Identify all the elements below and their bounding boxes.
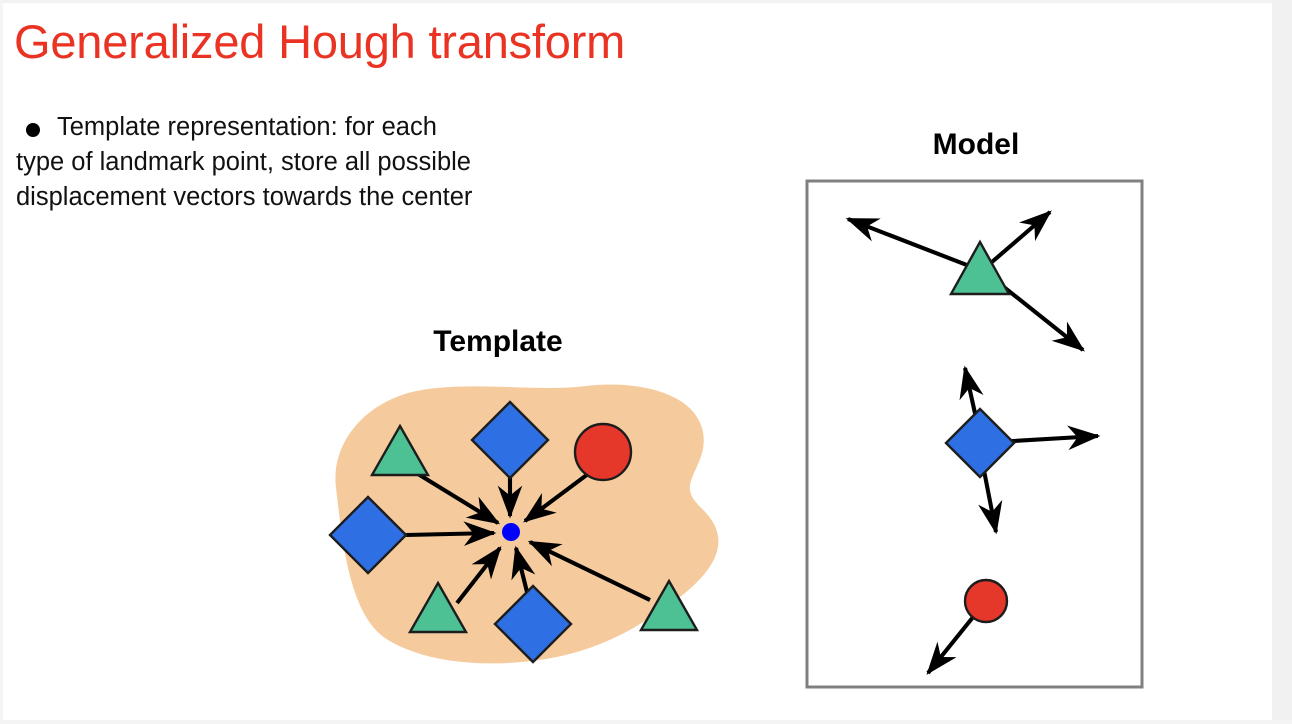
template-diagram xyxy=(300,370,740,680)
slide-title: Generalized Hough transform xyxy=(14,13,625,71)
bullet-line-2: type of landmark point, store all possib… xyxy=(16,145,576,180)
template-center-point xyxy=(502,523,520,541)
bullet-line-1: Template representation: for each xyxy=(16,110,576,145)
slide-edge-bottom xyxy=(0,720,1292,724)
list-item: Template representation: for each type o… xyxy=(16,110,576,215)
slide-edge-right xyxy=(1272,0,1292,724)
slide-edge-left xyxy=(0,0,3,724)
bullet-list: Template representation: for each type o… xyxy=(16,110,576,215)
bullet-dot-icon xyxy=(26,123,40,137)
bullet-line-3: displacement vectors towards the center xyxy=(16,180,576,215)
model-figure-label: Model xyxy=(856,128,1096,162)
landmark-circle-1 xyxy=(575,424,631,480)
slide-edge-top xyxy=(0,0,1292,3)
template-figure-label: Template xyxy=(378,325,618,359)
displacement-arrow-4 xyxy=(406,533,494,535)
model-diagram xyxy=(800,174,1150,694)
model-circle xyxy=(965,580,1007,622)
slide-canvas: Generalized Hough transform Template rep… xyxy=(0,0,1292,724)
